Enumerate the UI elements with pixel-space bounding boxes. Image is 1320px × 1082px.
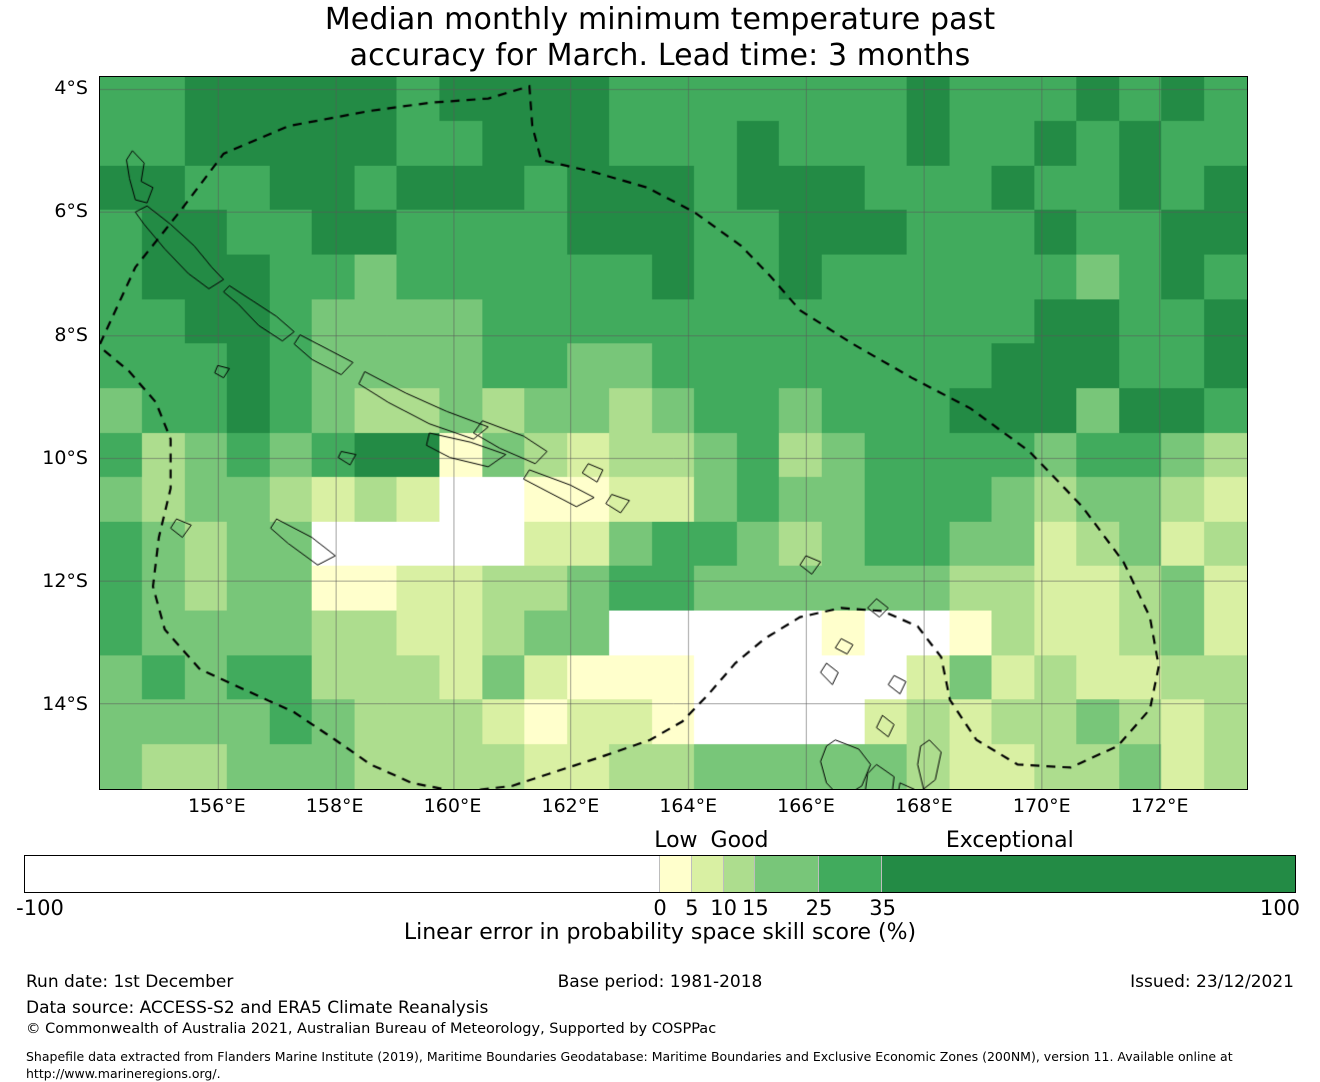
colorbar	[24, 855, 1296, 893]
colorbar-tick-labels: -1000510152535100	[0, 896, 1320, 922]
shapefile-line-1: Shapefile data extracted from Flanders M…	[26, 1048, 1233, 1065]
figure-root: Median monthly minimum temperature past …	[0, 0, 1320, 1080]
colorbar-tick-label: 100	[1210, 896, 1320, 920]
x-tick-label: 158°E	[275, 795, 395, 817]
colorbar-segment	[755, 856, 819, 892]
copyright-text: © Commonwealth of Australia 2021, Austra…	[26, 1021, 716, 1037]
y-tick-label: 8°S	[0, 324, 88, 346]
colorbar-tick-label: -100	[0, 896, 110, 920]
colorbar-axis-label: Linear error in probability space skill …	[0, 920, 1320, 945]
colorbar-segment	[724, 856, 756, 892]
x-tick-label: 166°E	[746, 795, 866, 817]
shapefile-attribution: Shapefile data extracted from Flanders M…	[26, 1048, 1233, 1082]
y-tick-label: 4°S	[0, 77, 88, 99]
issued-date-text: Issued: 23/12/2021	[1130, 972, 1294, 992]
colorbar-segment	[692, 856, 724, 892]
x-tick-label: 164°E	[628, 795, 748, 817]
x-tick-label: 160°E	[393, 795, 513, 817]
x-tick-label: 172°E	[1100, 795, 1220, 817]
x-tick-label: 156°E	[157, 795, 277, 817]
colorbar-segment	[819, 856, 883, 892]
footer-row-primary: Run date: 1st December Base period: 1981…	[0, 972, 1320, 996]
colorbar-category-labels: LowGoodExceptional	[0, 828, 1320, 854]
x-tick-label: 162°E	[510, 795, 630, 817]
y-tick-label: 14°S	[0, 693, 88, 715]
base-period-text: Base period: 1981-2018	[0, 972, 1320, 992]
colorbar-segment	[882, 856, 1295, 892]
colorbar-tick-label: 35	[813, 896, 953, 920]
y-tick-label: 6°S	[0, 200, 88, 222]
colorbar-segment	[660, 856, 692, 892]
shapefile-line-2: http://www.marineregions.org/.	[26, 1065, 1233, 1082]
footer: Run date: 1st December Base period: 1981…	[0, 972, 1320, 1080]
y-tick-label: 10°S	[0, 447, 88, 469]
x-tick-label: 170°E	[982, 795, 1102, 817]
colorbar-segment	[25, 856, 660, 892]
y-tick-label: 12°S	[0, 570, 88, 592]
data-source-text: Data source: ACCESS-S2 and ERA5 Climate …	[26, 998, 488, 1018]
colorbar-category-label: Good	[610, 828, 870, 853]
x-tick-label: 168°E	[864, 795, 984, 817]
colorbar-category-label: Exceptional	[880, 828, 1140, 853]
